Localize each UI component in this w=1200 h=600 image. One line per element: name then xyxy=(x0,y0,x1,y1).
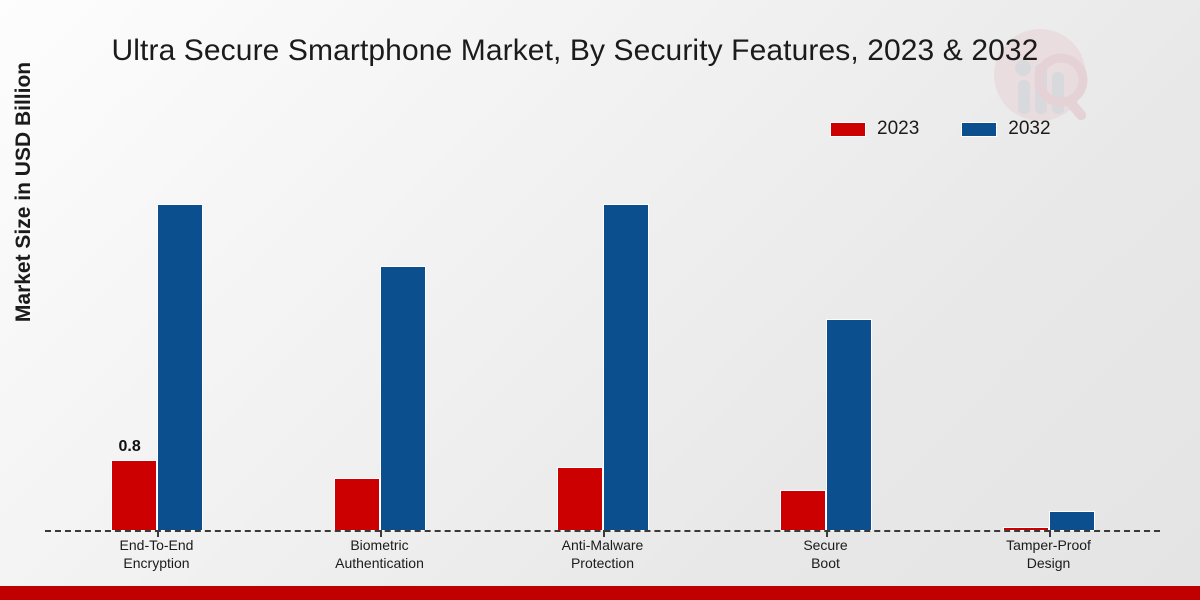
x-axis-tick-label: Anti-MalwareProtection xyxy=(503,536,703,572)
legend-label: 2032 xyxy=(1008,118,1050,140)
legend-label: 2023 xyxy=(877,118,919,140)
chart-figure: Ultra Secure Smartphone Market, By Secur… xyxy=(0,0,1200,600)
x-axis-tick-label-line: Biometric xyxy=(280,536,480,554)
x-axis-tick-label-line: Design xyxy=(949,554,1149,572)
legend-item-2032[interactable]: 2032 xyxy=(961,118,1050,140)
x-axis-tick-label-line: Tamper-Proof xyxy=(949,536,1149,554)
x-axis-tick-label-line: Protection xyxy=(503,554,703,572)
x-axis-tick-label-line: Secure xyxy=(726,536,926,554)
x-axis-tick-label: End-To-EndEncryption xyxy=(57,536,257,572)
x-axis-tick-label-line: Boot xyxy=(726,554,926,572)
x-axis-tick-label-line: End-To-End xyxy=(57,536,257,554)
bar-2032-anti-malware-protection[interactable] xyxy=(603,204,649,531)
bar-2023-anti-malware-protection[interactable] xyxy=(557,467,603,531)
x-axis-tick-label: Tamper-ProofDesign xyxy=(949,536,1149,572)
legend-swatch-icon xyxy=(830,122,866,137)
plot-area: 0.8 xyxy=(45,160,1160,531)
legend-item-2023[interactable]: 2023 xyxy=(830,118,919,140)
chart-legend: 2023 2032 xyxy=(830,118,1051,140)
footer-stripe xyxy=(0,586,1200,600)
x-axis-tick-label-line: Authentication xyxy=(280,554,480,572)
y-axis-title: Market Size in USD Billion xyxy=(12,0,36,392)
page-title: Ultra Secure Smartphone Market, By Secur… xyxy=(0,34,1150,68)
bar-2032-biometric-authentication[interactable] xyxy=(380,266,426,531)
bar-group xyxy=(334,160,426,531)
bar-2023-end-to-end-encryption[interactable] xyxy=(111,460,157,531)
bar-2032-tamper-proof-design[interactable] xyxy=(1049,511,1095,531)
bar-2032-end-to-end-encryption[interactable] xyxy=(157,204,203,531)
bar-2023-biometric-authentication[interactable] xyxy=(334,478,380,531)
bar-value-label: 0.8 xyxy=(119,438,141,456)
x-axis-tick-label-line: Encryption xyxy=(57,554,257,572)
x-axis-tick-label: BiometricAuthentication xyxy=(280,536,480,572)
bar-2032-secure-boot[interactable] xyxy=(826,319,872,531)
x-axis-tick-label-line: Anti-Malware xyxy=(503,536,703,554)
bar-group: 0.8 xyxy=(111,160,203,531)
bar-group xyxy=(557,160,649,531)
x-axis-tick-label: SecureBoot xyxy=(726,536,926,572)
bar-2023-secure-boot[interactable] xyxy=(780,490,826,531)
bar-group xyxy=(1003,160,1095,531)
bar-group xyxy=(780,160,872,531)
legend-swatch-icon xyxy=(961,122,997,137)
